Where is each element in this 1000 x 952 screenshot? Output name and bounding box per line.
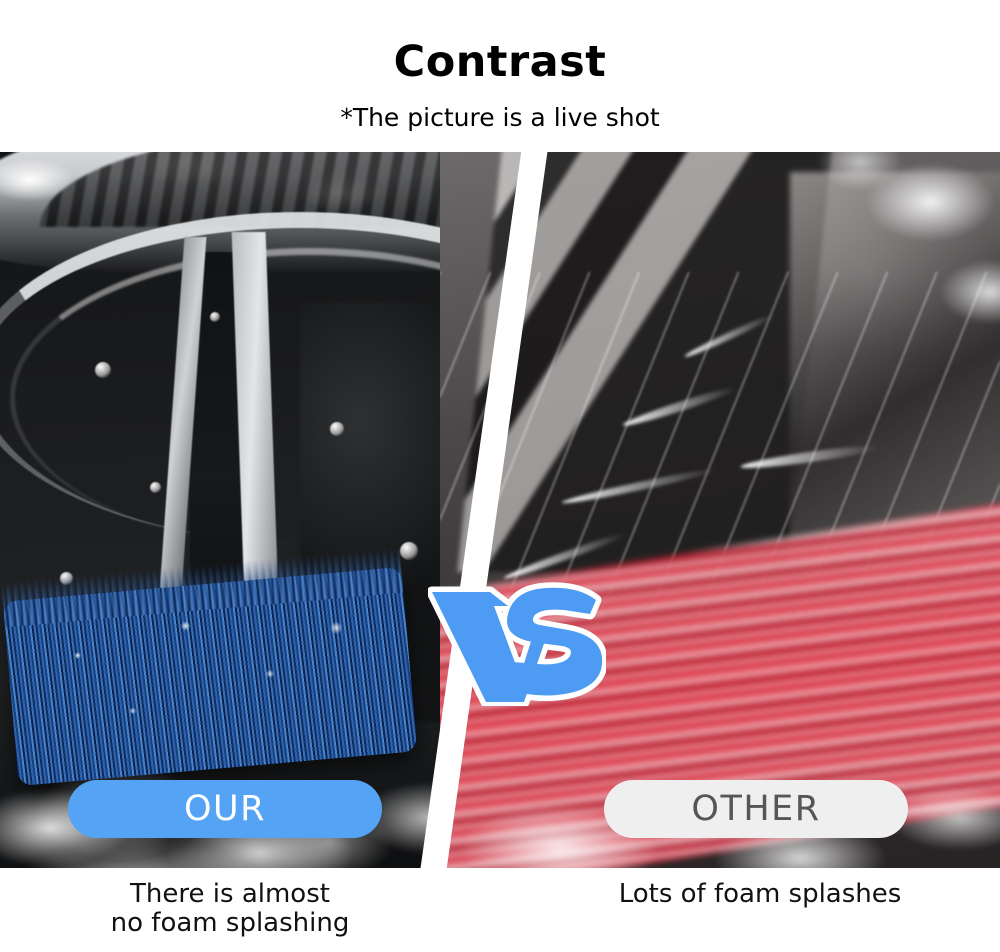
other-label-pill[interactable]: OTHER — [604, 780, 908, 838]
page-title: Contrast — [0, 36, 1000, 88]
foam-bubble — [150, 482, 161, 493]
our-label-text: OUR — [184, 789, 266, 829]
foam-bubble — [330, 422, 344, 436]
page-header: Contrast *The picture is a live shot — [0, 0, 1000, 152]
our-caption: There is almost no foam splashing — [45, 880, 415, 938]
foam-bubble — [210, 312, 220, 322]
foam-bubble — [400, 542, 418, 560]
caption-row: There is almost no foam splashing Lots o… — [0, 868, 1000, 952]
foam-bubble — [95, 362, 111, 378]
contrast-comparison-page: Contrast *The picture is a live shot — [0, 0, 1000, 952]
vs-badge — [428, 580, 606, 706]
page-subtitle: *The picture is a live shot — [0, 102, 1000, 134]
comparison-strip: OUR OTHER — [0, 152, 1000, 868]
other-caption: Lots of foam splashes — [560, 880, 960, 909]
other-label-text: OTHER — [691, 789, 820, 829]
blue-brush-head — [3, 567, 418, 786]
our-label-pill[interactable]: OUR — [68, 780, 382, 838]
